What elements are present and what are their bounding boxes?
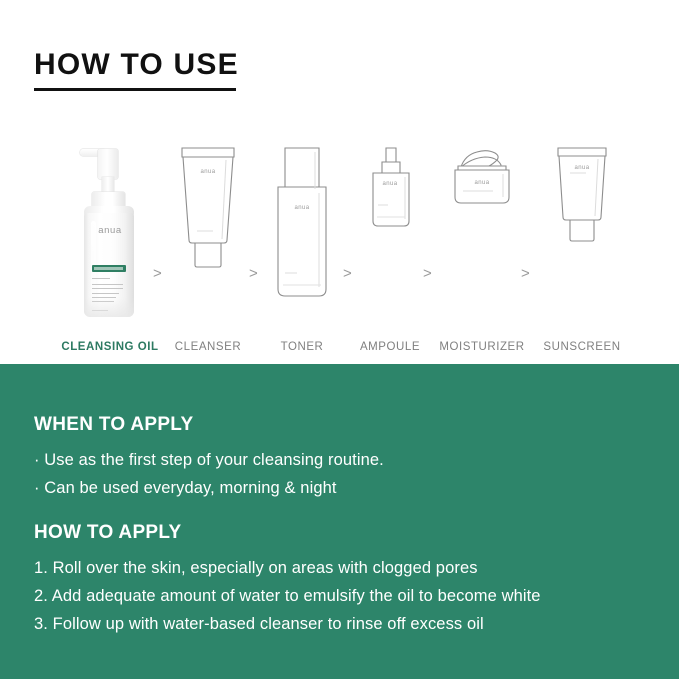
when-to-apply-item: · Can be used everyday, morning & night bbox=[34, 476, 337, 500]
title-underline-rule bbox=[34, 88, 236, 91]
dropper-bottle-icon: anua bbox=[372, 147, 408, 227]
routine-step-toner: anua TONER bbox=[277, 147, 327, 325]
routine-step-cleanser: anua CLEANSER bbox=[180, 147, 236, 325]
toner-bottle-icon: anua bbox=[277, 147, 327, 297]
routine-step-cleansing-oil: anua CLEANSING OIL bbox=[66, 147, 154, 325]
brand-logo-text: anua bbox=[383, 181, 398, 187]
routine-step-sunscreen: anua SUNSCREEN bbox=[549, 147, 615, 325]
step-label-toner: TONER bbox=[281, 341, 324, 353]
how-to-apply-item: 3. Follow up with water-based cleanser t… bbox=[34, 612, 484, 636]
brand-logo-text: anua bbox=[98, 225, 122, 236]
ampoule-drawing bbox=[372, 147, 410, 227]
tube-icon: anua bbox=[180, 147, 236, 269]
pump-bottle-icon: anua bbox=[74, 147, 146, 319]
step-arrow-3: > bbox=[343, 266, 352, 281]
step-arrow-4: > bbox=[423, 266, 432, 281]
routine-step-moisturizer: anua MOISTURIZER bbox=[451, 147, 513, 325]
when-to-apply-heading: WHEN TO APPLY bbox=[34, 414, 193, 436]
infographic-page: HOW TO USE anua bbox=[0, 0, 679, 679]
pump-head bbox=[98, 149, 118, 179]
when-to-apply-item: · Use as the first step of your cleansin… bbox=[34, 448, 384, 472]
moisturizer-jar-drawing bbox=[451, 147, 513, 205]
how-to-apply-heading: HOW TO APPLY bbox=[34, 522, 182, 544]
how-to-apply-item: 1. Roll over the skin, especially on are… bbox=[34, 556, 478, 580]
routine-step-ampoule: anua AMPOULE bbox=[371, 147, 409, 325]
cream-jar-icon: anua bbox=[451, 147, 513, 205]
label-microtext-line bbox=[92, 288, 123, 289]
page-title: HOW TO USE bbox=[34, 46, 239, 84]
step-label-cleanser: CLEANSER bbox=[175, 341, 241, 353]
bottle-bottom-shading bbox=[84, 297, 134, 317]
step-label-cleansing-oil: CLEANSING OIL bbox=[61, 341, 158, 353]
brand-logo-text: anua bbox=[201, 169, 216, 175]
sunscreen-tube-drawing bbox=[556, 147, 608, 243]
green-product-label bbox=[92, 265, 126, 272]
routine-step-strip: anua CLEANSING OIL > bbox=[0, 110, 679, 325]
label-microtext-line bbox=[92, 293, 119, 294]
brand-logo-text: anua bbox=[575, 165, 590, 171]
step-label-moisturizer: MOISTURIZER bbox=[439, 341, 524, 353]
how-to-use-section: HOW TO USE anua bbox=[0, 0, 679, 364]
instructions-section: WHEN TO APPLY · Use as the first step of… bbox=[0, 364, 679, 679]
how-to-apply-item: 2. Add adequate amount of water to emuls… bbox=[34, 584, 541, 608]
cleanser-tube-drawing bbox=[180, 147, 236, 269]
step-label-sunscreen: SUNSCREEN bbox=[543, 341, 620, 353]
label-microtext-line bbox=[92, 278, 110, 279]
step-arrow-2: > bbox=[249, 266, 258, 281]
step-label-ampoule: AMPOULE bbox=[360, 341, 420, 353]
brand-logo-text: anua bbox=[295, 205, 310, 211]
brand-logo-text: anua bbox=[475, 180, 490, 186]
step-arrow-1: > bbox=[153, 266, 162, 281]
toner-bottle-drawing bbox=[277, 147, 327, 297]
sunscreen-tube-icon: anua bbox=[556, 147, 608, 243]
step-arrow-5: > bbox=[521, 266, 530, 281]
label-microtext-line bbox=[92, 284, 123, 285]
